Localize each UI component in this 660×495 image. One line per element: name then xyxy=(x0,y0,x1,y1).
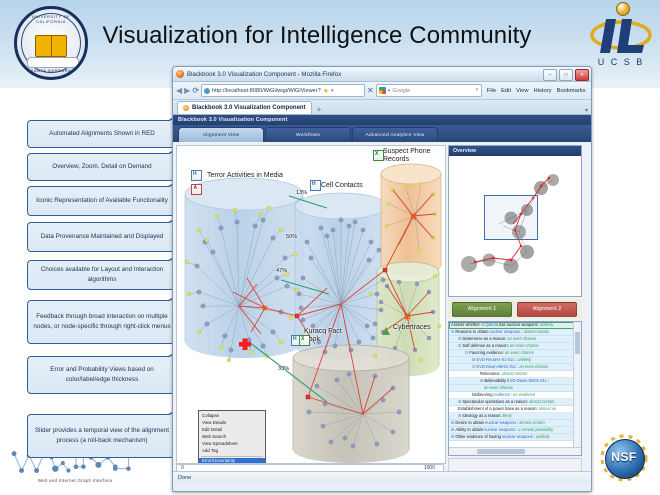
tree-label2: : xyxy=(516,428,517,432)
seal-bottom-text: SANTA BARBARA xyxy=(17,68,85,73)
tree-vertical-scrollbar[interactable] xyxy=(573,322,581,449)
alignment-2-button[interactable]: Alignment 2 xyxy=(517,302,577,317)
tree-link[interactable]: EVD-Dawn-Mir01-01c xyxy=(507,379,547,383)
web-page-viewport: Blackbook 3.0 Visualization Component Al… xyxy=(173,115,591,484)
tree-row[interactable]: ⊞ Spectacular operations as a reason: al… xyxy=(449,399,576,406)
tree-label: Establishment of a power base as a reaso… xyxy=(458,407,538,411)
spreadsheet-source-icon[interactable] xyxy=(373,150,384,161)
tree-toggle-icon[interactable]: ⊟ xyxy=(451,330,454,334)
menu-bookmarks[interactable]: Bookmarks xyxy=(557,88,586,94)
tree-toggle-icon[interactable]: ⊞ xyxy=(458,414,461,418)
search-placeholder: Google xyxy=(392,88,473,94)
callout-feedback-interaction: Feedback through broad interaction on mu… xyxy=(27,300,177,344)
tree-value: an even chance xyxy=(505,351,534,355)
tree-value: almost certain xyxy=(519,421,544,425)
browser-tab-strip: Blackbook 3.0 Visualization Component + … xyxy=(173,100,591,115)
tree-label: Desire to obtain xyxy=(455,421,484,425)
tree-label2: : xyxy=(517,421,518,425)
callout-overview-zoom-detail: Overview, Zoom, Detail on Demand xyxy=(27,153,177,181)
site-favicon xyxy=(204,88,210,94)
tree-value: a remote possibility xyxy=(518,428,553,432)
browser-title-bar: Blackbook 3.0 Visualization Component - … xyxy=(173,67,591,82)
tab-workflows[interactable]: Workflows xyxy=(265,127,351,142)
tree-label: Other evidence of having xyxy=(455,435,501,439)
tree-row[interactable]: ⊟ Self defense as a reason: an even chan… xyxy=(449,343,576,350)
graph-canvas[interactable]: Terror Activities in Media Cell Contacts… xyxy=(176,145,446,464)
maximize-button[interactable]: □ xyxy=(559,69,573,81)
tree-row[interactable]: ⊞ Ability to obtain nuclear weapons : a … xyxy=(449,427,576,434)
menu-item-web-search[interactable]: Web Search xyxy=(199,433,265,440)
label-cell-contacts: Cell Contacts xyxy=(321,182,363,189)
forward-icon[interactable]: ▶ xyxy=(184,86,190,95)
tree-value: almost certain xyxy=(523,330,548,334)
tree-toggle-icon[interactable]: ⊞ xyxy=(472,358,475,362)
tree-toggle-icon[interactable]: ⊞ xyxy=(480,379,483,383)
tree-row[interactable]: ⊟ Reasons to obtain nuclear weapons : al… xyxy=(449,329,576,336)
firefox-browser-window: Blackbook 3.0 Visualization Component - … xyxy=(172,66,592,492)
provenance-tree-panel[interactable]: Assess whether Al Qaeda has nuclear weap… xyxy=(448,321,582,456)
tree-value: unlikely xyxy=(540,323,554,327)
callout-temporal-slider: Slider provides a temporal view of the a… xyxy=(27,414,177,458)
alignment-button-bar: Alignment 1 Alignment 2 xyxy=(448,299,582,319)
tree-label2: : xyxy=(517,365,518,369)
callout-text: Overview, Zoom, Detail on Demand xyxy=(52,162,151,172)
tree-toggle-icon[interactable]: ⊞ xyxy=(458,337,461,341)
menu-history[interactable]: History xyxy=(534,88,552,94)
tree-value: an even chance xyxy=(510,344,539,348)
tree-row[interactable]: Relevance: almost certain xyxy=(449,371,576,378)
node-context-menu[interactable]: Collapse View Details Edit Detail Web Se… xyxy=(198,410,266,464)
tab-advanced-analytics-view[interactable]: Advanced Analytics View xyxy=(352,127,438,142)
tree-link[interactable]: Al Qaeda xyxy=(481,323,498,327)
tree-row[interactable]: Establishment of a power base as a reaso… xyxy=(449,406,576,413)
menu-edit[interactable]: Edit xyxy=(501,88,511,94)
tree-row[interactable]: ⊟ EVD-Dawn-Mir01-01c : an even chance xyxy=(449,364,576,371)
tab-label: Alignment View xyxy=(203,133,239,138)
back-icon[interactable]: ◀ xyxy=(176,86,182,95)
tree-label2: : xyxy=(521,330,522,334)
tab-favicon xyxy=(183,105,189,111)
app-body: Terror Activities in Media Cell Contacts… xyxy=(173,142,591,484)
tree-toggle-icon[interactable]: ⊟ xyxy=(458,344,461,348)
tree-label: Assess whether xyxy=(451,323,480,327)
tree-row[interactable]: ⊞ Deterrence as a reason: an even chance xyxy=(449,336,576,343)
alignment-1-button[interactable]: Alignment 1 xyxy=(452,302,512,317)
callout-text: Automated Alignments Shown in RED xyxy=(49,129,155,139)
html-source-icon[interactable] xyxy=(191,170,202,181)
tree-label: Reasons to obtain xyxy=(455,330,488,334)
wigi-caption: Web and Internet Graph Interface xyxy=(8,478,142,483)
reload-icon[interactable]: ⟳ xyxy=(192,85,199,96)
tree-link[interactable]: nuclear weapons xyxy=(502,435,533,439)
pdf-source-icon[interactable] xyxy=(191,184,202,195)
menu-separator xyxy=(201,456,263,457)
scrollbar-thumb[interactable] xyxy=(477,449,525,454)
app-header-bar: Blackbook 3.0 Visualization Component xyxy=(173,115,591,125)
menu-file[interactable]: File xyxy=(487,88,496,94)
browser-tab-blackbook[interactable]: Blackbook 3.0 Visualization Component xyxy=(177,101,312,114)
html-source-icon[interactable] xyxy=(310,180,321,191)
firefox-icon xyxy=(176,70,184,78)
tree-value: an even chance xyxy=(484,386,513,390)
tree-label: Ideology as a reason: xyxy=(462,414,501,418)
tree-toggle-icon[interactable]: ⊞ xyxy=(458,400,461,404)
tree-label: Deterrence as a reason: xyxy=(462,337,506,341)
ucsb-wordmark: U C S B xyxy=(590,57,652,67)
tree-row[interactable]: ⊞ Other evidence of having nuclear weapo… xyxy=(449,434,576,441)
tree-label: Ability to obtain xyxy=(455,428,483,432)
menu-view[interactable]: View xyxy=(516,88,528,94)
menu-item-edit-detail[interactable]: Edit Detail xyxy=(199,426,265,433)
chevron-down-icon[interactable]: ▾ xyxy=(388,88,391,94)
menu-item-view-spreadsheet[interactable]: View Spreadsheet xyxy=(199,440,265,447)
menu-bar: File Edit View History Bookmarks Tools H… xyxy=(484,88,592,94)
seal-scroll-icon xyxy=(27,57,79,68)
cybertrace-source-icon[interactable] xyxy=(382,326,391,335)
tree-value: no evidence xyxy=(513,393,535,397)
tree-horizontal-scrollbar[interactable] xyxy=(449,447,582,455)
tree-link[interactable]: nuclear weapons xyxy=(489,330,520,334)
menu-item-add-tag[interactable]: Add Tag xyxy=(199,447,265,454)
tree-label2: has nuclear weapons: xyxy=(499,323,539,327)
label-cybertraces: Cybertraces xyxy=(393,324,431,331)
minimize-button[interactable]: – xyxy=(543,69,557,81)
tree-value: an even chance xyxy=(507,337,536,341)
label-suspect-phone-records: Suspect Phone Records xyxy=(383,148,443,164)
tree-label: Favoring evidence: xyxy=(469,351,504,355)
url-text: http://localhost:8080/WiGi/wigi/WiGiView… xyxy=(212,88,321,94)
alignment-percent-33: 33% xyxy=(278,366,289,372)
ilp-ucsb-logo: U C S B xyxy=(590,2,652,80)
tree-value: unlikely xyxy=(536,435,550,439)
tree-link[interactable]: EVD-Reuters-01-01c xyxy=(476,358,514,362)
callout-text: Feedback through broad interaction on mu… xyxy=(33,312,171,332)
tab-list-icon[interactable]: ▾ xyxy=(585,107,588,114)
callout-layout-choices: Choices available for Layout and Interac… xyxy=(27,260,177,290)
tree-toggle-icon[interactable]: ⊞ xyxy=(451,421,454,425)
tab-label: Blackbook 3.0 Visualization Component xyxy=(192,105,306,111)
alignment-percent-50: 50% xyxy=(286,234,297,240)
tree-label: Relevance: xyxy=(480,372,500,376)
chevron-down-icon[interactable]: ▾ xyxy=(331,88,334,94)
tree-toggle-icon[interactable]: ⊞ xyxy=(451,435,454,439)
tree-value: unlikely xyxy=(518,358,532,362)
menu-tools[interactable]: Tools xyxy=(591,88,592,94)
tree-toggle-icon[interactable]: ⊟ xyxy=(465,351,468,355)
address-bar[interactable]: http://localhost:8080/WiGi/wigi/WiGiView… xyxy=(201,84,365,97)
app-tab-bar: Alignment View Workflows Advanced Analyt… xyxy=(173,125,591,142)
search-icon: ⌕ xyxy=(475,87,478,94)
tree-row[interactable]: ⊞ Ideology as a reason: likely xyxy=(449,413,576,420)
overview-viewport-rectangle[interactable] xyxy=(484,195,538,240)
tree-value: almost certain xyxy=(501,372,526,376)
tree-value: an even chance xyxy=(519,365,548,369)
tab-alignment-view[interactable]: Alignment View xyxy=(178,127,264,142)
tree-row[interactable]: ⊞ Desire to obtain nuclear weapons : alm… xyxy=(449,420,576,427)
label-kuracq-fact-book: Kuracq Fact Book xyxy=(304,328,348,344)
tree-row[interactable]: an even chance xyxy=(449,385,576,392)
tree-row[interactable]: ⊞ Believability EVD-Dawn-Mir01-01c : xyxy=(449,378,576,385)
tree-link[interactable]: EVD-Dawn-Mir01-01c xyxy=(476,365,516,369)
window-title: Blackbook 3.0 Visualization Component - … xyxy=(187,71,341,78)
scrollbar-thumb[interactable] xyxy=(575,332,580,354)
tree-label: Disfavoring xyxy=(472,393,492,397)
callout-data-provenance: Data Provenance Maintained and Displayed xyxy=(27,222,177,252)
stop-icon[interactable]: ✕ xyxy=(367,85,374,96)
overview-title: Overview xyxy=(449,146,581,156)
menu-item-view-details[interactable]: View Details xyxy=(199,419,265,426)
tab-label: Advanced Analytics View xyxy=(366,133,425,138)
tree-label2: : xyxy=(534,435,535,439)
alignment-percent-47: 47% xyxy=(276,268,287,274)
provenance-tree-list: Assess whether Al Qaeda has nuclear weap… xyxy=(449,322,576,449)
nsf-wordmark: NSF xyxy=(598,450,650,464)
tree-link[interactable]: nuclear weapons xyxy=(485,421,516,425)
tree-row[interactable]: Disfavoring evidence : no evidence xyxy=(449,392,576,399)
tree-value: likely xyxy=(503,414,512,418)
close-button[interactable]: ✕ xyxy=(575,69,589,81)
callout-error-probability-views: Error and Probability Views based on col… xyxy=(27,356,177,394)
search-input[interactable]: ▾ Google ⌕ xyxy=(376,84,482,97)
tree-value: almost ce xyxy=(539,407,557,411)
tree-label2: : xyxy=(548,379,549,383)
menu-item-collapse[interactable]: Collapse xyxy=(199,412,265,419)
tree-row[interactable]: ⊟ Favoring evidence: an even chance xyxy=(449,350,576,357)
page-title: Visualization for Intelligence Community xyxy=(82,22,552,50)
tree-value: almost certain xyxy=(529,400,554,404)
callout-iconic-representation: Iconic Representation of Available Funct… xyxy=(27,186,177,216)
tree-row[interactable]: Assess whether Al Qaeda has nuclear weap… xyxy=(449,322,576,329)
tree-label2: : xyxy=(515,358,516,362)
tree-link[interactable]: nuclear weapons xyxy=(484,428,515,432)
tab-label: Workflows xyxy=(296,133,320,138)
tree-label: Believability xyxy=(484,379,506,383)
new-tab-icon[interactable]: + xyxy=(317,105,322,114)
app-title: Blackbook 3.0 Visualization Component xyxy=(178,117,287,123)
callout-text: Error and Probability Views based on col… xyxy=(33,365,171,385)
seal-top-text: UNIVERSITY OF CALIFORNIA xyxy=(17,14,85,24)
window-controls: – □ ✕ xyxy=(543,69,589,81)
overview-canvas[interactable] xyxy=(449,156,581,296)
logo-dot-icon xyxy=(616,2,630,16)
tree-toggle-icon[interactable]: ⊞ xyxy=(451,428,454,432)
tree-link[interactable]: evidence xyxy=(493,393,509,397)
seal-book-icon xyxy=(35,35,67,57)
browser-status-text: Done xyxy=(178,475,191,481)
callout-text: Iconic Representation of Available Funct… xyxy=(36,196,168,206)
browser-status-bar: Done xyxy=(173,471,591,484)
callout-automated-alignments: Automated Alignments Shown in RED xyxy=(27,120,177,148)
overview-panel: Overview xyxy=(448,145,582,297)
ucsb-seal-logo: UNIVERSITY OF CALIFORNIA SANTA BARBARA xyxy=(14,6,88,80)
google-icon xyxy=(379,87,386,94)
bookmark-star-icon[interactable]: ★ xyxy=(323,87,329,95)
spreadsheet-source-icon[interactable] xyxy=(299,335,310,346)
tree-label2: : xyxy=(511,393,512,397)
callout-text: Data Provenance Maintained and Displayed xyxy=(41,232,164,242)
tree-row[interactable]: ⊞ EVD-Reuters-01-01c : unlikely xyxy=(449,357,576,364)
alignment-percent-13: 13% xyxy=(296,190,307,196)
browser-navigation-bar: ◀ ▶ ⟳ http://localhost:8080/WiGi/wigi/Wi… xyxy=(173,82,591,100)
tree-label: Spectacular operations as a reason: xyxy=(462,400,528,404)
nsf-logo: NSF xyxy=(598,432,650,484)
tree-toggle-icon[interactable]: ⊟ xyxy=(472,365,475,369)
callout-text: Slider provides a temporal view of the a… xyxy=(33,426,171,446)
il-monogram-icon xyxy=(590,15,652,57)
tree-label: Self defense as a reason: xyxy=(462,344,508,348)
callout-text: Choices available for Layout and Interac… xyxy=(33,265,171,285)
label-terror-activities: Terror Activities in Media xyxy=(207,172,283,179)
